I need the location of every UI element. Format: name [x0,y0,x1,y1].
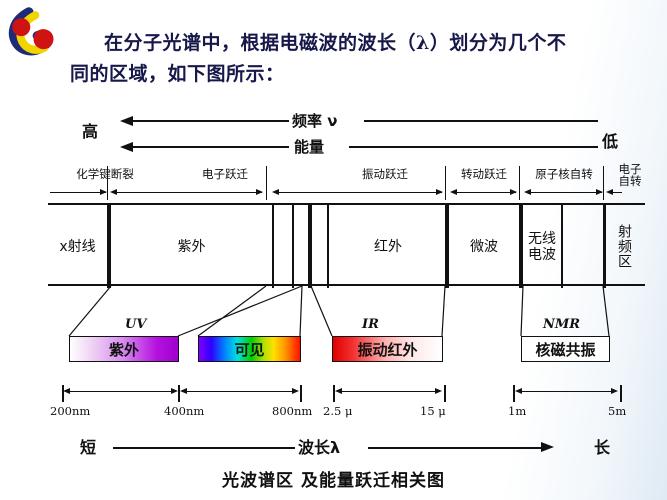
band-cell-radiowave: 无线 电波 [523,205,561,288]
chip-sci-label-uv: UV [125,317,146,332]
energy-axis-right-label: 低 [602,128,618,152]
heading-line-1: 在分子光谱中，根据电磁波的波长（λ）划分为几个不 [70,28,658,59]
band-cell-x-ray: x射线 [48,205,107,288]
scale-arrow-b-right [292,388,299,394]
energy-line-left [133,146,289,148]
band-cell-uv: 紫外 [111,205,272,288]
chip-sci-label-ir: IR [362,317,379,332]
transition-label-4: 原子核自转 [522,168,606,180]
band-cell-microwave: 微波 [449,205,519,288]
transition-divider-2 [445,166,446,200]
scale-label-6: 5m [608,404,626,418]
band-divider-thick-4 [519,205,523,288]
scale-label-0: 200nm [50,404,90,418]
band-cell-radiowave-line1: 无线 [528,231,556,247]
transition-arrow-4 [530,192,602,193]
scale-arrow-c-right [435,388,442,394]
transition-arrow-2-head-right [436,189,443,195]
energy-label: 能量 [294,136,324,157]
transition-divider-3 [519,166,520,200]
band-cell-radiowave-line2: 电波 [528,247,556,263]
band-divider-thin-2 [292,205,294,288]
scale-tick-4 [444,385,446,402]
scale-label-5: 1m [508,404,526,418]
slide-canvas: 在分子光谱中，根据电磁波的波长（λ）划分为几个不 同的区域，如下图所示： 高 低… [0,0,667,500]
chip-uv[interactable]: 紫外 [69,336,179,362]
transition-arrow-3-head-right [510,189,517,195]
transition-arrow-3 [456,192,516,193]
scale-label-2: 800nm [272,404,312,418]
chip-ir[interactable]: 振动红外 [332,336,443,362]
scale-tick-6 [620,385,622,402]
wavelength-arrow-head [541,442,554,452]
energy-line-right [349,146,598,148]
band-cell-rf: 射频区 [606,205,642,288]
transition-label-3: 转动跃迁 [448,168,520,180]
scale-span-b [186,391,294,392]
scale-arrow-a-right [171,388,178,394]
band-divider-thin-1 [272,205,274,288]
band-divider-thin-3 [327,205,329,288]
scale-label-4: 15 μ [420,404,446,418]
scale-span-a [69,391,173,392]
wavelength-line-left [113,447,295,449]
band-divider-thick-1 [107,205,111,288]
scale-label-3: 2.5 μ [323,404,352,418]
band-divider-thick-2 [308,205,312,288]
wavelength-axis-left-label: 短 [80,434,96,458]
transition-divider-4 [603,166,604,200]
transition-arrow-1 [116,192,262,193]
chip-nmr[interactable]: 核磁共振 [521,336,610,362]
chip-sci-label-nmr: NMR [543,317,580,332]
page-title: 在分子光谱中，根据电磁波的波长（λ）划分为几个不 同的区域，如下图所示： [70,28,658,90]
transition-arrow-1-head-right [256,189,263,195]
frequency-line-right [364,120,598,122]
heading-line-2: 同的区域，如下图所示： [70,59,658,90]
transition-arrow-2 [278,192,442,193]
frequency-line-left [133,120,289,122]
band-divider-thick-3 [445,205,449,288]
band-divider-thin-4 [561,205,563,288]
scale-span-d [521,391,613,392]
spectrum-band: x射线 紫外 红外 微波 无线 电波 射频区 [48,203,645,286]
transition-divider-1 [266,166,267,200]
scale-tick-2 [300,385,302,402]
chip-visible[interactable]: 可见 [198,336,301,362]
wavelength-line-right [368,447,541,449]
scale-span-c [341,391,437,392]
transition-arrow-0-head [100,189,107,195]
scale-arrow-d-right [611,388,618,394]
frequency-label: 频率 ν [292,110,337,131]
energy-arrow-head [120,142,133,152]
energy-axis-left-label: 高 [82,118,98,142]
transition-arrow-5 [612,192,622,193]
scale-label-1: 400nm [164,404,204,418]
band-cell-ir: 红外 [331,205,445,288]
transition-label-5-line2: 自转 [610,175,650,187]
figure-caption: 光波谱区 及能量跃迁相关图 [0,466,667,491]
transition-label-5: 电子 自转 [610,163,650,187]
transition-label-0: 化学键断裂 [50,168,160,180]
transition-label-2: 振动跃迁 [330,168,440,180]
transition-arrow-4-head-right [596,189,603,195]
logo [6,6,62,62]
wavelength-center-label: 波长λ [298,434,340,458]
wavelength-axis-right-label: 长 [594,434,610,458]
frequency-arrow-head [120,116,133,126]
transition-arrow-0 [50,192,106,193]
transition-label-1: 电子跃迁 [165,168,285,180]
transition-divider-0 [107,166,108,200]
